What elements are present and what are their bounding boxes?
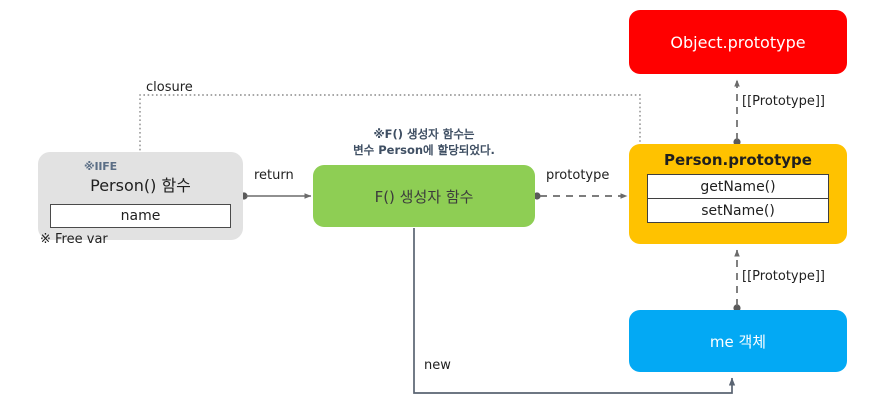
edge-label-closure: closure	[146, 80, 193, 95]
free-variable-slot: name	[50, 204, 231, 228]
constructor-note-line2: 변수 Person에 할당되었다.	[353, 143, 495, 157]
person-prototype-title: Person.prototype	[629, 151, 847, 169]
edge-prototype-link-bottom	[733, 250, 740, 312]
constructor-note-line1: ※F() 생성자 함수는	[373, 127, 474, 141]
node-constructor-function[interactable]: F() 생성자 함수	[313, 165, 535, 227]
edge-label-new: new	[424, 358, 451, 373]
edge-prototype-link-top	[733, 80, 740, 146]
constructor-function-title: F() 생성자 함수	[375, 186, 474, 207]
diagram-canvas: ※IIFE Person() 함수 name ※ Free var ※F() 생…	[0, 0, 869, 418]
edge-label-prototype-link-bottom: [[Prototype]]	[742, 269, 825, 284]
node-me-object[interactable]: me 객체	[629, 310, 847, 372]
member-set-name[interactable]: setName()	[648, 198, 828, 222]
node-person-function[interactable]: ※IIFE Person() 함수 name	[38, 152, 243, 240]
edge-label-prototype-link-top: [[Prototype]]	[742, 94, 825, 109]
edge-label-return: return	[254, 168, 294, 183]
node-object-prototype[interactable]: Object.prototype	[629, 10, 847, 74]
node-person-prototype[interactable]: Person.prototype getName() setName()	[629, 144, 847, 244]
person-function-title: Person() 함수	[38, 172, 243, 196]
constructor-note: ※F() 생성자 함수는 변수 Person에 할당되었다.	[313, 127, 535, 158]
edge-prototype	[533, 192, 627, 199]
me-object-title: me 객체	[710, 331, 766, 352]
object-prototype-title: Object.prototype	[670, 33, 805, 52]
edge-label-prototype: prototype	[546, 168, 609, 183]
free-var-footnote: ※ Free var	[40, 232, 108, 247]
person-prototype-members: getName() setName()	[647, 174, 829, 223]
edge-return	[240, 192, 311, 199]
member-get-name[interactable]: getName()	[648, 175, 828, 198]
